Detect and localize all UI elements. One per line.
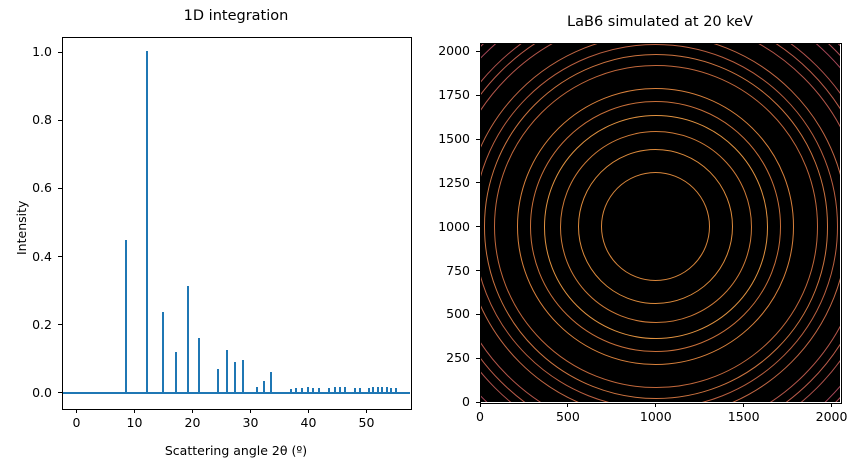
panel-1d-integration: 1D integration Intensity Scattering angl… <box>0 0 430 475</box>
diffraction-peak <box>295 388 297 394</box>
diffraction-peak <box>226 350 228 394</box>
x-tick-mark <box>655 403 656 407</box>
y-tick-mark <box>476 95 480 96</box>
x-tick-label: 500 <box>528 409 608 424</box>
left-plot-area <box>62 37 410 408</box>
diffraction-peak <box>125 240 127 394</box>
diffraction-peak <box>312 388 314 394</box>
x-tick-mark <box>567 403 568 407</box>
diffraction-peak <box>381 387 383 394</box>
y-tick-mark <box>476 182 480 183</box>
x-tick-mark <box>192 409 193 413</box>
y-tick-mark <box>58 52 62 53</box>
x-tick-label: 0 <box>440 409 520 424</box>
diffraction-peak <box>175 352 177 394</box>
diffraction-peak <box>344 387 346 394</box>
x-tick-mark <box>831 403 832 407</box>
y-tick-label: 1750 <box>388 87 470 102</box>
y-tick-label: 250 <box>388 350 470 365</box>
diffraction-peak <box>270 372 272 394</box>
y-tick-mark <box>476 358 480 359</box>
diffraction-peak <box>334 387 336 394</box>
x-tick-mark <box>480 403 481 407</box>
diffraction-peak <box>339 387 341 393</box>
diffraction-peak <box>290 389 292 394</box>
y-tick-label: 750 <box>388 263 470 278</box>
x-tick-mark <box>743 403 744 407</box>
matplotlib-figure: 1D integration Intensity Scattering angl… <box>0 0 855 475</box>
detector-image <box>480 43 840 402</box>
diffraction-peak <box>359 388 361 394</box>
diffraction-peak <box>395 388 397 394</box>
diffraction-peak <box>263 381 265 394</box>
diffraction-peak <box>318 388 320 394</box>
y-tick-mark <box>476 402 480 403</box>
debye-scherrer-ring <box>480 43 840 402</box>
y-tick-label: 0.6 <box>0 180 52 195</box>
left-panel-title: 1D integration <box>62 8 410 24</box>
x-tick-mark <box>308 409 309 413</box>
diffraction-peak <box>386 387 388 393</box>
y-tick-label: 1250 <box>388 175 470 190</box>
y-tick-label: 1500 <box>388 131 470 146</box>
y-tick-mark <box>58 392 62 393</box>
diffraction-peak <box>368 388 370 394</box>
diffraction-peak <box>354 388 356 394</box>
diffraction-peak <box>187 286 189 394</box>
y-tick-label: 0 <box>388 394 470 409</box>
y-tick-label: 0.8 <box>0 112 52 127</box>
x-tick-mark <box>366 409 367 413</box>
diffraction-peak <box>162 312 164 394</box>
y-tick-label: 0.0 <box>0 385 52 400</box>
y-tick-mark <box>476 270 480 271</box>
diffraction-peak <box>377 387 379 393</box>
diffraction-peak <box>301 388 303 394</box>
y-tick-mark <box>476 314 480 315</box>
right-panel-title: LaB6 simulated at 20 keV <box>480 14 840 30</box>
diffraction-peak <box>146 51 148 393</box>
y-tick-mark <box>476 51 480 52</box>
diffraction-peak <box>372 387 374 393</box>
diffraction-peak <box>307 387 309 394</box>
y-tick-mark <box>58 188 62 189</box>
diffraction-peak <box>234 362 236 394</box>
x-tick-mark <box>134 409 135 413</box>
y-tick-mark <box>58 324 62 325</box>
y-tick-label: 2000 <box>388 43 470 58</box>
y-tick-label: 500 <box>388 306 470 321</box>
y-tick-mark <box>58 120 62 121</box>
diffraction-peak <box>242 360 244 394</box>
diffraction-peak <box>390 388 392 394</box>
x-tick-mark <box>250 409 251 413</box>
x-tick-label: 2000 <box>792 409 855 424</box>
x-tick-label: 50 <box>327 415 407 430</box>
panel-2d-detector-image: LaB6 simulated at 20 keV 050010001500200… <box>430 0 855 475</box>
y-tick-mark <box>476 139 480 140</box>
left-x-axis-label: Scattering angle 2θ (º) <box>62 443 410 458</box>
x-tick-mark <box>76 409 77 413</box>
left-y-axis-label: Intensity <box>14 201 29 255</box>
y-tick-label: 0.4 <box>0 249 52 264</box>
x-tick-label: 1500 <box>704 409 784 424</box>
y-tick-mark <box>476 226 480 227</box>
diffraction-peak <box>217 369 219 393</box>
y-tick-mark <box>58 256 62 257</box>
y-tick-label: 1000 <box>388 219 470 234</box>
diffraction-peak <box>328 388 330 394</box>
diffraction-peak <box>256 387 258 394</box>
y-tick-label: 1.0 <box>0 44 52 59</box>
diffraction-peak <box>198 338 200 394</box>
y-tick-label: 0.2 <box>0 317 52 332</box>
x-tick-label: 1000 <box>616 409 696 424</box>
